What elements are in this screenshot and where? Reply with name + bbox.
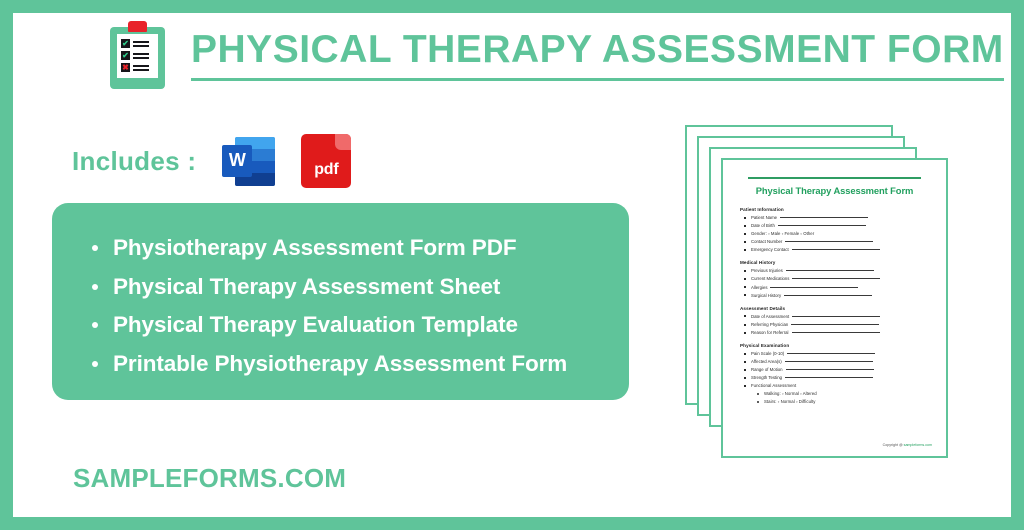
doc-field-label: Previous Injuries: [751, 268, 783, 273]
doc-field-row: Allergies: [738, 285, 931, 290]
document-preview-stack: Physical Therapy Assessment Form Patient…: [685, 125, 950, 461]
copyright-domain: sampleforms.com: [904, 443, 932, 447]
doc-field-label: Strength Testing: [751, 375, 782, 380]
doc-field-blank-line: [785, 241, 873, 242]
doc-field-label: Contact Number: [751, 239, 782, 244]
doc-field-row: Date of Birth: [738, 223, 931, 228]
doc-field-row: Walking: ▫ Normal ▫ Altered: [738, 391, 931, 396]
doc-section: Physical ExaminationPain Scale (0-10)Aff…: [738, 343, 931, 404]
doc-field-blank-line: [770, 287, 858, 288]
doc-top-rule: [748, 177, 922, 179]
doc-field-row: Reason for Referral: [738, 330, 931, 335]
doc-field-row: Surgical History: [738, 293, 931, 298]
doc-field-row: Previous Injuries: [738, 268, 931, 273]
doc-section-heading: Assessment Details: [740, 306, 931, 311]
poster-canvas: ✔ ✔ ✖ PHYSICAL THERAPY ASSESSMENT FORM I…: [13, 13, 1011, 517]
doc-field-blank-line: [786, 270, 874, 271]
doc-field-blank-line: [780, 217, 868, 218]
doc-field-blank-line: [787, 353, 875, 354]
bullet-list-card: Physiotherapy Assessment Form PDF Physic…: [52, 203, 629, 400]
doc-field-blank-line: [792, 332, 880, 333]
list-item: Physiotherapy Assessment Form PDF: [88, 237, 599, 260]
doc-field-blank-line: [792, 249, 880, 250]
bullet-list: Physiotherapy Assessment Form PDF Physic…: [88, 237, 599, 375]
doc-field-blank-line: [786, 369, 874, 370]
doc-field-blank-line: [785, 377, 873, 378]
poster-root: ✔ ✔ ✖ PHYSICAL THERAPY ASSESSMENT FORM I…: [0, 0, 1024, 530]
word-letter: W: [222, 145, 252, 177]
doc-field-blank-line: [791, 324, 879, 325]
doc-field-label: Gender: ▫ Male ▫ Female ▫ Other: [751, 231, 814, 236]
doc-field-label: Stairs: ▫ Normal ▫ Difficulty: [764, 399, 815, 404]
doc-field-label: Current Medications: [751, 276, 789, 281]
document-preview-front[interactable]: Physical Therapy Assessment Form Patient…: [721, 158, 948, 458]
doc-field-blank-line: [778, 225, 866, 226]
doc-field-row: Pain Scale (0-10): [738, 351, 931, 356]
pdf-file-icon[interactable]: pdf: [301, 134, 351, 188]
doc-field-blank-line: [784, 295, 872, 296]
doc-section: Patient InformationPatient NameDate of B…: [738, 207, 931, 252]
doc-field-label: Date of Assessment: [751, 314, 789, 319]
doc-field-row: Referring Physician: [738, 322, 931, 327]
doc-field-row: Contact Number: [738, 239, 931, 244]
doc-field-label: Affected Area(s): [751, 359, 782, 364]
site-url: SAMPLEFORMS.COM: [73, 463, 346, 494]
cross-mark-icon: ✖: [122, 64, 129, 72]
list-item: Printable Physiotherapy Assessment Form: [88, 353, 599, 376]
doc-field-label: Surgical History: [751, 293, 781, 298]
list-item: Physical Therapy Evaluation Template: [88, 314, 599, 337]
doc-section-heading: Patient Information: [740, 207, 931, 212]
doc-section: Assessment DetailsDate of AssessmentRefe…: [738, 306, 931, 335]
doc-field-blank-line: [792, 316, 880, 317]
doc-field-label: Patient Name: [751, 215, 777, 220]
doc-field-row: Affected Area(s): [738, 359, 931, 364]
page-fold-corner: [335, 134, 351, 150]
doc-field-row: Range of Motion: [738, 367, 931, 372]
doc-field-row: Stairs: ▫ Normal ▫ Difficulty: [738, 399, 931, 404]
doc-title: Physical Therapy Assessment Form: [738, 185, 931, 196]
doc-field-label: Pain Scale (0-10): [751, 351, 784, 356]
includes-label: Includes :: [72, 146, 196, 177]
doc-field-row: Date of Assessment: [738, 314, 931, 319]
doc-field-label: Emergency Contact: [751, 247, 789, 252]
word-file-icon[interactable]: W: [222, 135, 275, 188]
doc-field-row: Functional Assessment: [738, 383, 931, 388]
check-mark-icon: ✔: [122, 40, 129, 48]
doc-field-label: Functional Assessment: [751, 383, 796, 388]
doc-field-blank-line: [792, 278, 880, 279]
doc-copyright: Copyright @ sampleforms.com: [883, 443, 932, 447]
doc-field-label: Date of Birth: [751, 223, 775, 228]
page-title: PHYSICAL THERAPY ASSESSMENT FORM: [191, 29, 1004, 81]
doc-field-row: Strength Testing: [738, 375, 931, 380]
copyright-prefix: Copyright @: [883, 443, 904, 447]
doc-field-blank-line: [785, 361, 873, 362]
pdf-label: pdf: [301, 161, 351, 179]
list-item: Physical Therapy Assessment Sheet: [88, 276, 599, 299]
doc-field-row: Gender: ▫ Male ▫ Female ▫ Other: [738, 231, 931, 236]
doc-sections: Patient InformationPatient NameDate of B…: [738, 207, 931, 404]
doc-field-label: Referring Physician: [751, 322, 788, 327]
doc-field-row: Emergency Contact: [738, 247, 931, 252]
doc-section: Medical HistoryPrevious InjuriesCurrent …: [738, 260, 931, 297]
check-mark-icon: ✔: [122, 52, 129, 60]
doc-field-label: Allergies: [751, 285, 767, 290]
clipboard-checklist-icon: ✔ ✔ ✖: [110, 21, 165, 89]
doc-field-label: Walking: ▫ Normal ▫ Altered: [764, 391, 817, 396]
doc-section-heading: Medical History: [740, 260, 931, 265]
header: ✔ ✔ ✖ PHYSICAL THERAPY ASSESSMENT FORM: [110, 21, 1004, 89]
doc-field-label: Range of Motion: [751, 367, 783, 372]
includes-row: Includes : W pdf: [72, 134, 351, 188]
doc-field-row: Patient Name: [738, 215, 931, 220]
doc-section-heading: Physical Examination: [740, 343, 931, 348]
doc-field-row: Current Medications: [738, 276, 931, 281]
doc-field-label: Reason for Referral: [751, 330, 789, 335]
